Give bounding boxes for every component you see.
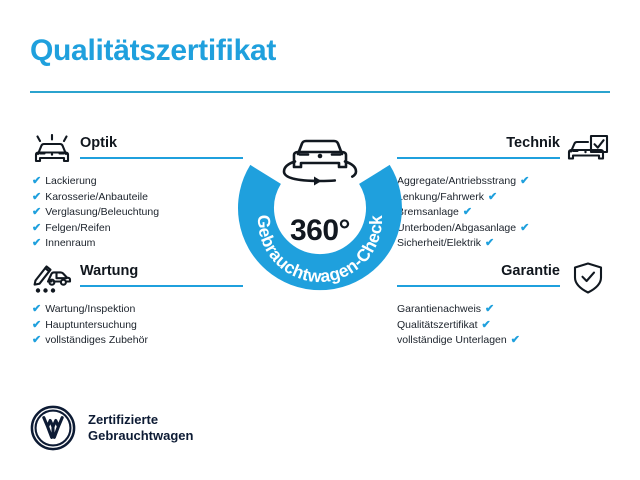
list-item-label: Verglasung/Beleuchtung: [45, 205, 159, 221]
footer-text: Zertifizierte Gebrauchtwagen: [88, 412, 193, 444]
car-shine-icon: [28, 133, 76, 167]
car-service-record-icon: [28, 261, 76, 295]
list-item: ✔vollständige Unterlagen: [397, 333, 612, 349]
section-optik-header: Optik: [28, 133, 243, 167]
check-icon: ✔: [485, 238, 494, 249]
check-icon: ✔: [32, 176, 41, 187]
list-item: ✔Garantienachweis: [397, 302, 612, 318]
list-item: ✔vollständiges Zubehör: [28, 333, 243, 349]
list-item: ✔Lackierung: [28, 174, 243, 190]
list-item: ✔Wartung/Inspektion: [28, 302, 243, 318]
list-item: ✔Unterboden/Abgasanlage: [397, 221, 612, 237]
list-item-label: Wartung/Inspektion: [45, 302, 135, 318]
check-icon: ✔: [32, 320, 41, 331]
title-divider: [30, 91, 610, 93]
list-item-label: vollständige Unterlagen: [397, 333, 507, 349]
list-item-label: Karosserie/Anbauteile: [45, 190, 148, 206]
check-icon: ✔: [520, 176, 529, 187]
section-optik: Optik ✔Lackierung ✔Karosserie/Anbauteile…: [28, 133, 243, 252]
section-technik: Technik ✔Aggregate/Antriebsstrang ✔Lenku…: [397, 133, 612, 252]
list-item-label: Lackierung: [45, 174, 96, 190]
page-title: Qualitätszertifikat: [30, 34, 276, 68]
check-icon: ✔: [511, 335, 520, 346]
check-icon: ✔: [32, 192, 41, 203]
vw-logo: [30, 405, 76, 451]
section-wartung: Wartung ✔Wartung/Inspektion ✔Hauptunters…: [28, 261, 243, 349]
list-item: ✔Bremsanlage: [397, 205, 612, 221]
list-item: ✔Sicherheit/Elektrik: [397, 236, 612, 252]
section-garantie-list: ✔Garantienachweis ✔Qualitätszertifikat ✔…: [397, 302, 612, 349]
check-icon: ✔: [463, 207, 472, 218]
check-icon: ✔: [32, 335, 41, 346]
check-icon: ✔: [32, 238, 41, 249]
list-item-label: Hauptuntersuchung: [45, 318, 137, 334]
list-item: ✔Verglasung/Beleuchtung: [28, 205, 243, 221]
section-wartung-divider: [80, 285, 243, 287]
list-item: ✔Lenkung/Fahrwerk: [397, 190, 612, 206]
section-wartung-list: ✔Wartung/Inspektion ✔Hauptuntersuchung ✔…: [28, 302, 243, 349]
section-technik-list: ✔Aggregate/Antriebsstrang ✔Lenkung/Fahrw…: [397, 174, 612, 252]
section-garantie-divider: [397, 285, 560, 287]
list-item: ✔Innenraum: [28, 236, 243, 252]
list-item-label: vollständiges Zubehör: [45, 333, 148, 349]
section-technik-title: Technik: [397, 133, 560, 153]
section-optik-divider: [80, 157, 243, 159]
shield-check-icon: [564, 261, 612, 295]
list-item: ✔Felgen/Reifen: [28, 221, 243, 237]
check-icon: ✔: [520, 223, 529, 234]
check-icon: ✔: [482, 320, 491, 331]
car-rotation-icon: [284, 141, 356, 186]
section-garantie: Garantie ✔Garantienachweis ✔Qualitätszer…: [397, 261, 612, 349]
list-item: ✔Aggregate/Antriebsstrang: [397, 174, 612, 190]
check-icon: ✔: [485, 304, 494, 315]
check-icon: ✔: [488, 192, 497, 203]
qualitaetszertifikat-page: Qualitätszertifikat Optik ✔Lackierung ✔K…: [0, 0, 640, 480]
check-icon: ✔: [32, 207, 41, 218]
section-garantie-title: Garantie: [397, 261, 560, 281]
list-item: ✔Qualitätszertifikat: [397, 318, 612, 334]
section-wartung-title: Wartung: [80, 261, 243, 281]
check-icon: ✔: [32, 223, 41, 234]
section-wartung-header: Wartung: [28, 261, 243, 295]
footer-brand: Zertifizierte Gebrauchtwagen: [30, 405, 193, 451]
section-optik-list: ✔Lackierung ✔Karosserie/Anbauteile ✔Verg…: [28, 174, 243, 252]
section-optik-title: Optik: [80, 133, 243, 153]
list-item-label: Qualitätszertifikat: [397, 318, 478, 334]
check-icon: ✔: [32, 304, 41, 315]
section-garantie-header: Garantie: [397, 261, 612, 295]
list-item-label: Felgen/Reifen: [45, 221, 110, 237]
list-item: ✔Karosserie/Anbauteile: [28, 190, 243, 206]
car-checkbox-icon: [564, 133, 612, 167]
section-technik-header: Technik: [397, 133, 612, 167]
section-technik-divider: [397, 157, 560, 159]
list-item-label: Aggregate/Antriebsstrang: [397, 174, 516, 190]
badge-center-label: 360°: [228, 214, 412, 248]
list-item: ✔Hauptuntersuchung: [28, 318, 243, 334]
list-item-label: Innenraum: [45, 236, 95, 252]
gebrauchtwagen-check-badge: Gebrauchtwagen-Check 360°: [228, 128, 412, 312]
list-item-label: Unterboden/Abgasanlage: [397, 221, 516, 237]
